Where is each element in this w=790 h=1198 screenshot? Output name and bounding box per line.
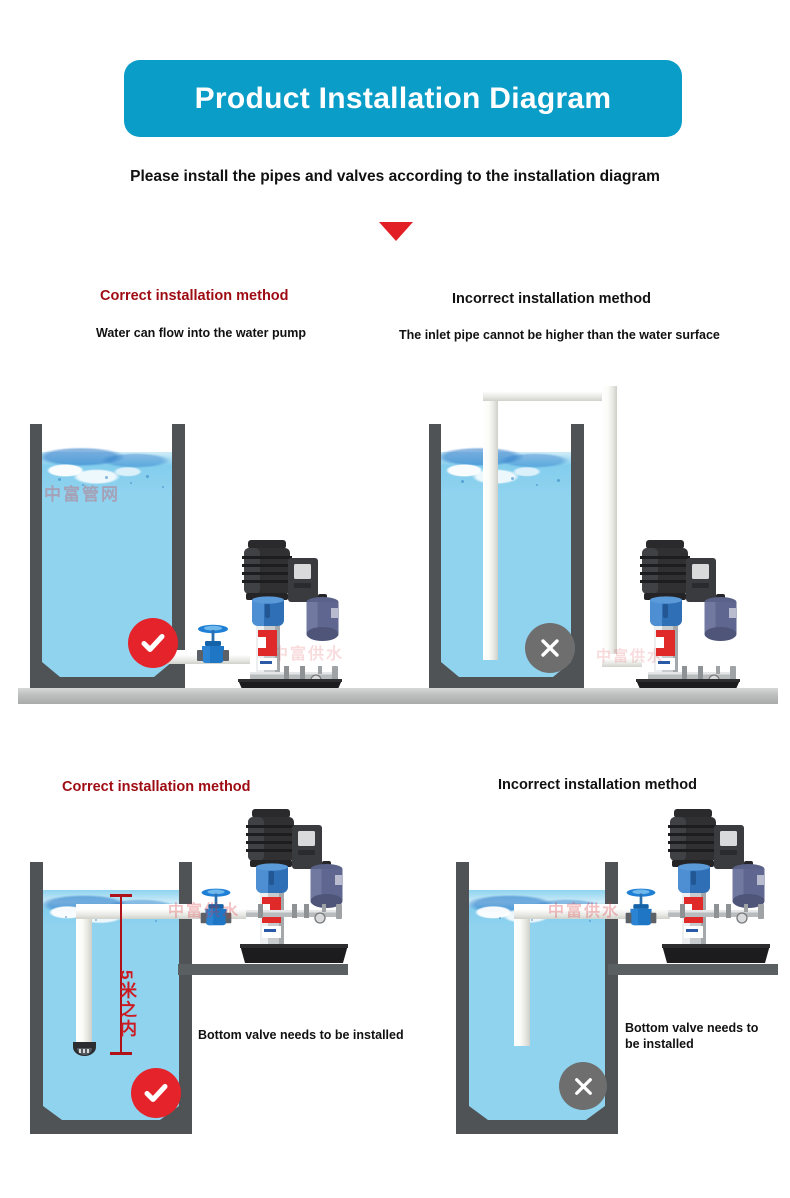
dimension-label: 5米之内 [114,970,139,1038]
booster-pump-set [232,536,352,690]
tank-wall-right [179,862,192,1120]
booster-pump-set [236,805,356,970]
booster-pump-set [630,536,750,690]
foot-valve-strainer [72,1040,97,1062]
row2-correct-heading: Correct installation method [62,779,251,795]
ground-line [18,688,778,704]
inlet-riser-pipe-front [483,424,498,660]
tank-wall-left [30,862,43,1120]
inlet-downcomer-pipe [602,386,617,661]
tank-wall-left [429,424,441,677]
tank-wall-left [30,424,42,677]
tank-wall-left [456,862,469,1120]
row2-incorrect-heading: Incorrect installation method [498,777,697,793]
tank-bevel-left [43,1106,62,1120]
suction-pipe-vertical [76,906,92,1044]
row1-incorrect-note: The inlet pipe cannot be higher than the… [399,328,720,342]
row2-correct-note: Bottom valve needs to be installed [198,1028,458,1044]
booster-pump-set [658,805,778,970]
gate-valve [193,884,239,930]
tank-wall-bottom [456,1120,618,1134]
check-badge [128,618,178,668]
row1-correct-heading: Correct installation method [100,288,289,304]
tank-bevel-left [441,662,459,677]
cross-badge [559,1062,607,1110]
row2-incorrect-note: Bottom valve needs to be installed [625,1021,775,1052]
tank-wall-bottom [30,1120,192,1134]
page-title: Product Installation Diagram [195,82,612,116]
check-badge [131,1068,181,1118]
page-subtitle: Please install the pipes and valves acco… [0,168,790,186]
motor-cap [248,540,286,549]
cross-badge [525,623,575,673]
dimension-cap-bottom [110,1052,132,1055]
tank-bevel-left [42,662,60,677]
tank-bevel-left [469,1106,488,1120]
row1-correct-note: Water can flow into the water pump [96,326,306,340]
installation-diagram-page: Product Installation Diagram Please inst… [0,0,790,1198]
gate-valve [189,620,237,668]
page-banner: Product Installation Diagram [124,60,682,137]
suction-pipe-vertical [514,906,530,1046]
row1-incorrect-heading: Incorrect installation method [452,291,651,307]
inlet-crossover-pipe [483,386,617,401]
tank-wall-right [605,862,618,1120]
triangle-down-icon [379,222,413,241]
